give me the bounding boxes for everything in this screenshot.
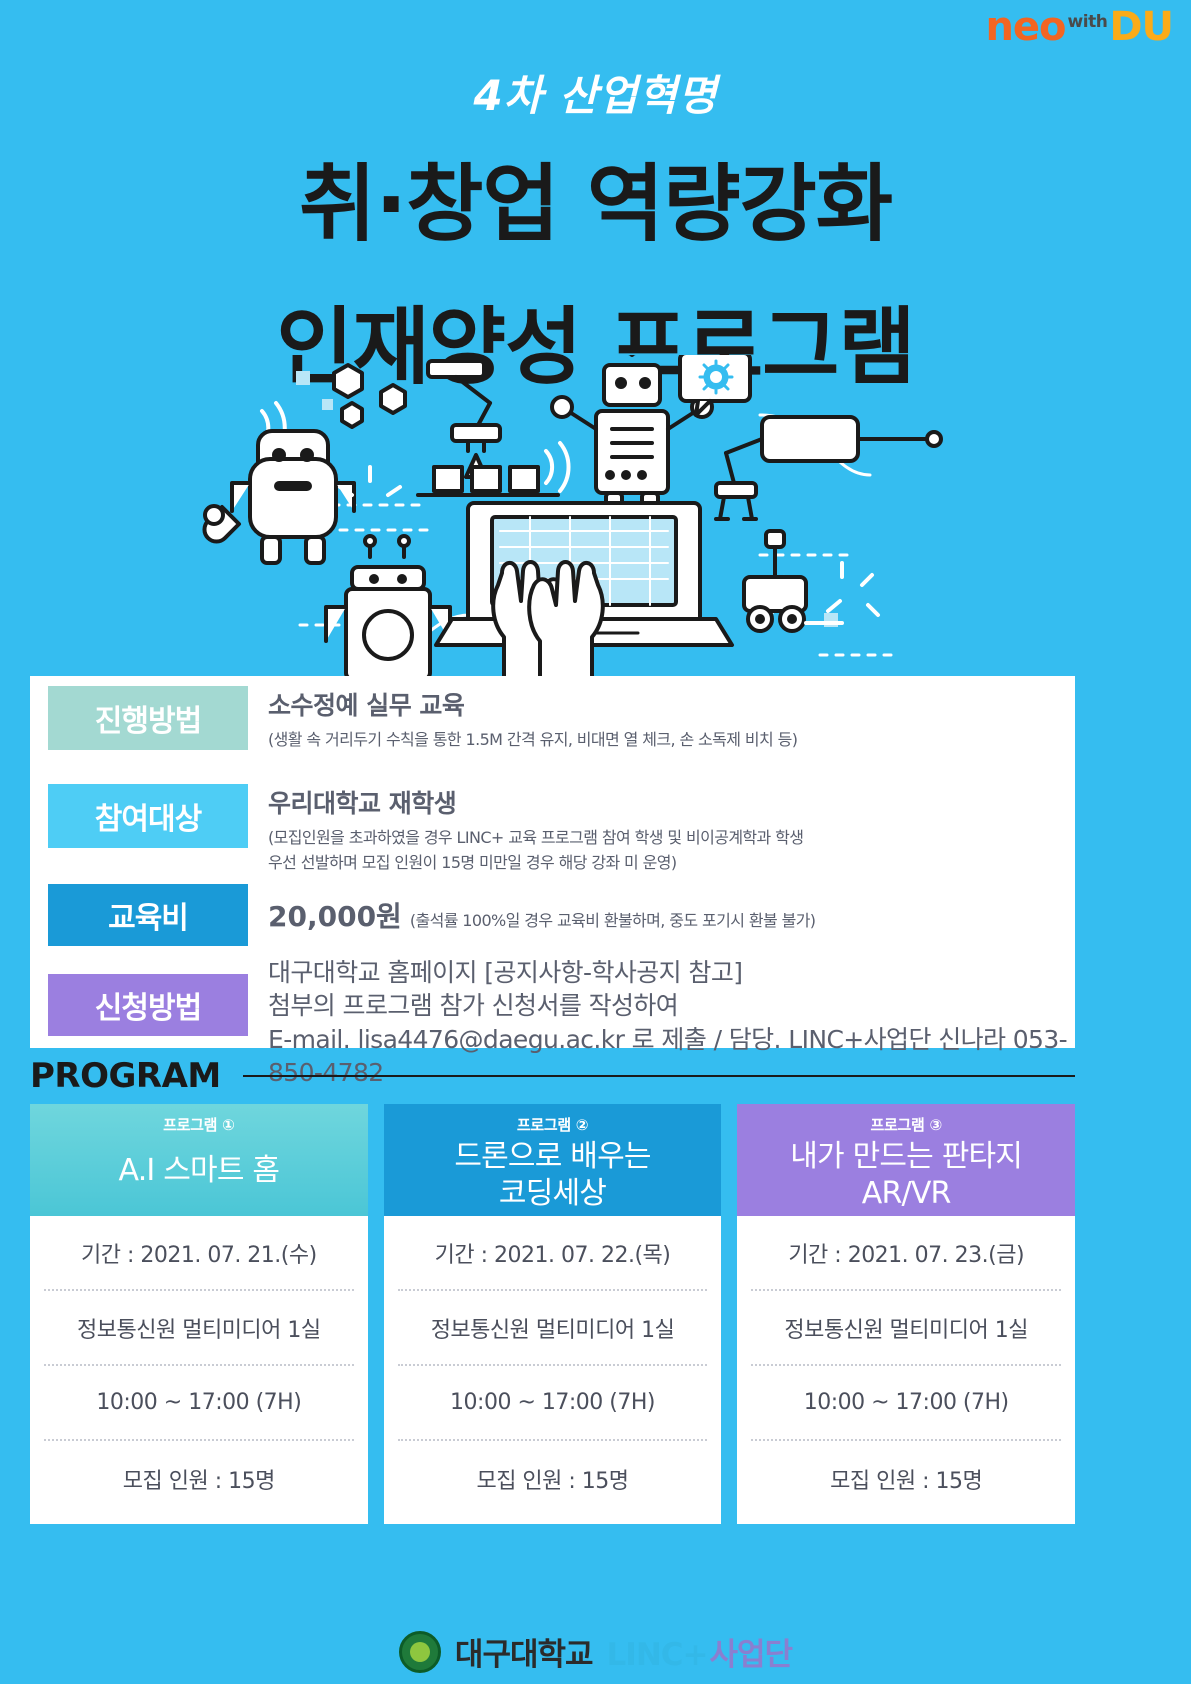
fee-amount: 20,000원 xyxy=(268,895,402,935)
neo-with-du-logo: neo with DU xyxy=(985,8,1173,46)
apply-line-2: 첨부의 프로그램 참가 신청서를 작성하여 xyxy=(268,989,1075,1022)
program-card-1-capacity: 모집 인원 : 15명 xyxy=(44,1441,354,1516)
program-card-1-place: 정보통신원 멀티미디어 1실 xyxy=(44,1291,354,1366)
program-card-2-time: 10:00 ~ 17:00 (7H) xyxy=(398,1366,708,1441)
program-card-3-header: 프로그램 ③ 내가 만드는 판타지 AR/VR xyxy=(737,1104,1075,1216)
program-card-2-index: 프로그램 ② xyxy=(384,1114,722,1135)
program-card-1-body: 기간 : 2021. 07. 21.(수) 정보통신원 멀티미디어 1실 10:… xyxy=(30,1216,368,1524)
program-cards: 프로그램 ① A.I 스마트 홈 기간 : 2021. 07. 21.(수) 정… xyxy=(30,1104,1075,1524)
program-card-2-title: 드론으로 배우는 코딩세상 xyxy=(384,1139,722,1212)
program-card-1-time: 10:00 ~ 17:00 (7H) xyxy=(44,1366,354,1441)
info-label-method: 진행방법 xyxy=(48,686,248,750)
info-label-apply: 신청방법 xyxy=(48,974,248,1036)
program-heading-rule xyxy=(243,1075,1075,1077)
program-heading-text: PROGRAM xyxy=(30,1056,221,1096)
info-note-method: (생활 속 거리두기 수칙을 통한 1.5M 간격 유지, 비대면 열 체크, … xyxy=(268,728,1075,753)
program-card-3-date: 기간 : 2021. 07. 23.(금) xyxy=(751,1216,1061,1291)
program-card-3-index: 프로그램 ③ xyxy=(737,1114,1075,1135)
program-card-3-time: 10:00 ~ 17:00 (7H) xyxy=(751,1366,1061,1441)
program-card-2-body: 기간 : 2021. 07. 22.(목) 정보통신원 멀티미디어 1실 10:… xyxy=(384,1216,722,1524)
info-label-target: 참여대상 xyxy=(48,784,248,848)
program-card-1-title: A.I 스마트 홈 xyxy=(30,1153,368,1190)
info-note-target-2: 우선 선발하며 모집 인원이 15명 미만일 경우 해당 강좌 미 운영) xyxy=(268,851,1075,876)
info-body-fee: 20,000원 (출석률 100%일 경우 교육비 환불하며, 중도 포기시 환… xyxy=(248,884,1075,946)
linc-logo: LINC+ 사업단 xyxy=(607,1629,793,1674)
info-head-target: 우리대학교 재학생 xyxy=(268,784,1075,820)
program-card-2-date: 기간 : 2021. 07. 22.(목) xyxy=(398,1216,708,1291)
program-card-1-index: 프로그램 ① xyxy=(30,1114,368,1135)
program-card-3[interactable]: 프로그램 ③ 내가 만드는 판타지 AR/VR 기간 : 2021. 07. 2… xyxy=(737,1104,1075,1524)
program-card-3-place: 정보통신원 멀티미디어 1실 xyxy=(751,1291,1061,1366)
logo-with-text: with xyxy=(1068,12,1108,32)
poster-subtitle: 4차 산업혁명 xyxy=(0,62,1191,123)
info-head-method: 소수정예 실무 교육 xyxy=(268,686,1075,722)
info-row-fee: 교육비 20,000원 (출석률 100%일 경우 교육비 환불하며, 중도 포… xyxy=(30,884,1075,946)
program-card-3-title: 내가 만드는 판타지 AR/VR xyxy=(737,1139,1075,1212)
fee-line: 20,000원 (출석률 100%일 경우 교육비 환불하며, 중도 포기시 환… xyxy=(268,895,815,935)
linc-text: LINC+ xyxy=(607,1637,708,1673)
program-card-1[interactable]: 프로그램 ① A.I 스마트 홈 기간 : 2021. 07. 21.(수) 정… xyxy=(30,1104,368,1524)
program-card-2-header: 프로그램 ② 드론으로 배우는 코딩세상 xyxy=(384,1104,722,1216)
info-body-target: 우리대학교 재학생 (모집인원을 초과하였을 경우 LINC+ 교육 프로그램 … xyxy=(248,784,1075,876)
program-card-3-body: 기간 : 2021. 07. 23.(금) 정보통신원 멀티미디어 1실 10:… xyxy=(737,1216,1075,1524)
robotics-illustration xyxy=(0,355,1191,685)
footer-logos: 대구대학교 LINC+ 사업단 xyxy=(0,1629,1191,1674)
poster-title-block: 4차 산업혁명 취·창업 역량강화 인재양성 프로그램 xyxy=(0,62,1191,401)
program-card-1-date: 기간 : 2021. 07. 21.(수) xyxy=(44,1216,354,1291)
fee-note: (출석률 100%일 경우 교육비 환불하며, 중도 포기시 환불 불가) xyxy=(410,909,816,934)
program-card-3-capacity: 모집 인원 : 15명 xyxy=(751,1441,1061,1516)
program-card-2-place: 정보통신원 멀티미디어 1실 xyxy=(398,1291,708,1366)
logo-neo-text: neo xyxy=(985,8,1065,46)
info-row-target: 참여대상 우리대학교 재학생 (모집인원을 초과하였을 경우 LINC+ 교육 … xyxy=(30,784,1075,876)
university-seal-icon xyxy=(399,1631,441,1673)
poster-title-line1: 취·창업 역량강화 xyxy=(0,137,1191,258)
info-panel: 진행방법 소수정예 실무 교육 (생활 속 거리두기 수칙을 통한 1.5M 간… xyxy=(30,676,1075,1048)
university-name: 대구대학교 xyxy=(455,1629,593,1674)
program-card-2-capacity: 모집 인원 : 15명 xyxy=(398,1441,708,1516)
linc-suffix-text: 사업단 xyxy=(710,1629,793,1674)
info-note-target-1: (모집인원을 초과하였을 경우 LINC+ 교육 프로그램 참여 학생 및 비이… xyxy=(268,826,1075,851)
logo-du-text: DU xyxy=(1109,8,1173,46)
program-card-1-header: 프로그램 ① A.I 스마트 홈 xyxy=(30,1104,368,1216)
apply-line-1: 대구대학교 홈페이지 [공지사항-학사공지 참고] xyxy=(268,956,1075,989)
program-card-2[interactable]: 프로그램 ② 드론으로 배우는 코딩세상 기간 : 2021. 07. 22.(… xyxy=(384,1104,722,1524)
program-heading: PROGRAM xyxy=(30,1056,1075,1096)
info-body-method: 소수정예 실무 교육 (생활 속 거리두기 수칙을 통한 1.5M 간격 유지,… xyxy=(248,686,1075,753)
info-row-method: 진행방법 소수정예 실무 교육 (생활 속 거리두기 수칙을 통한 1.5M 간… xyxy=(30,686,1075,753)
info-label-fee: 교육비 xyxy=(48,884,248,946)
